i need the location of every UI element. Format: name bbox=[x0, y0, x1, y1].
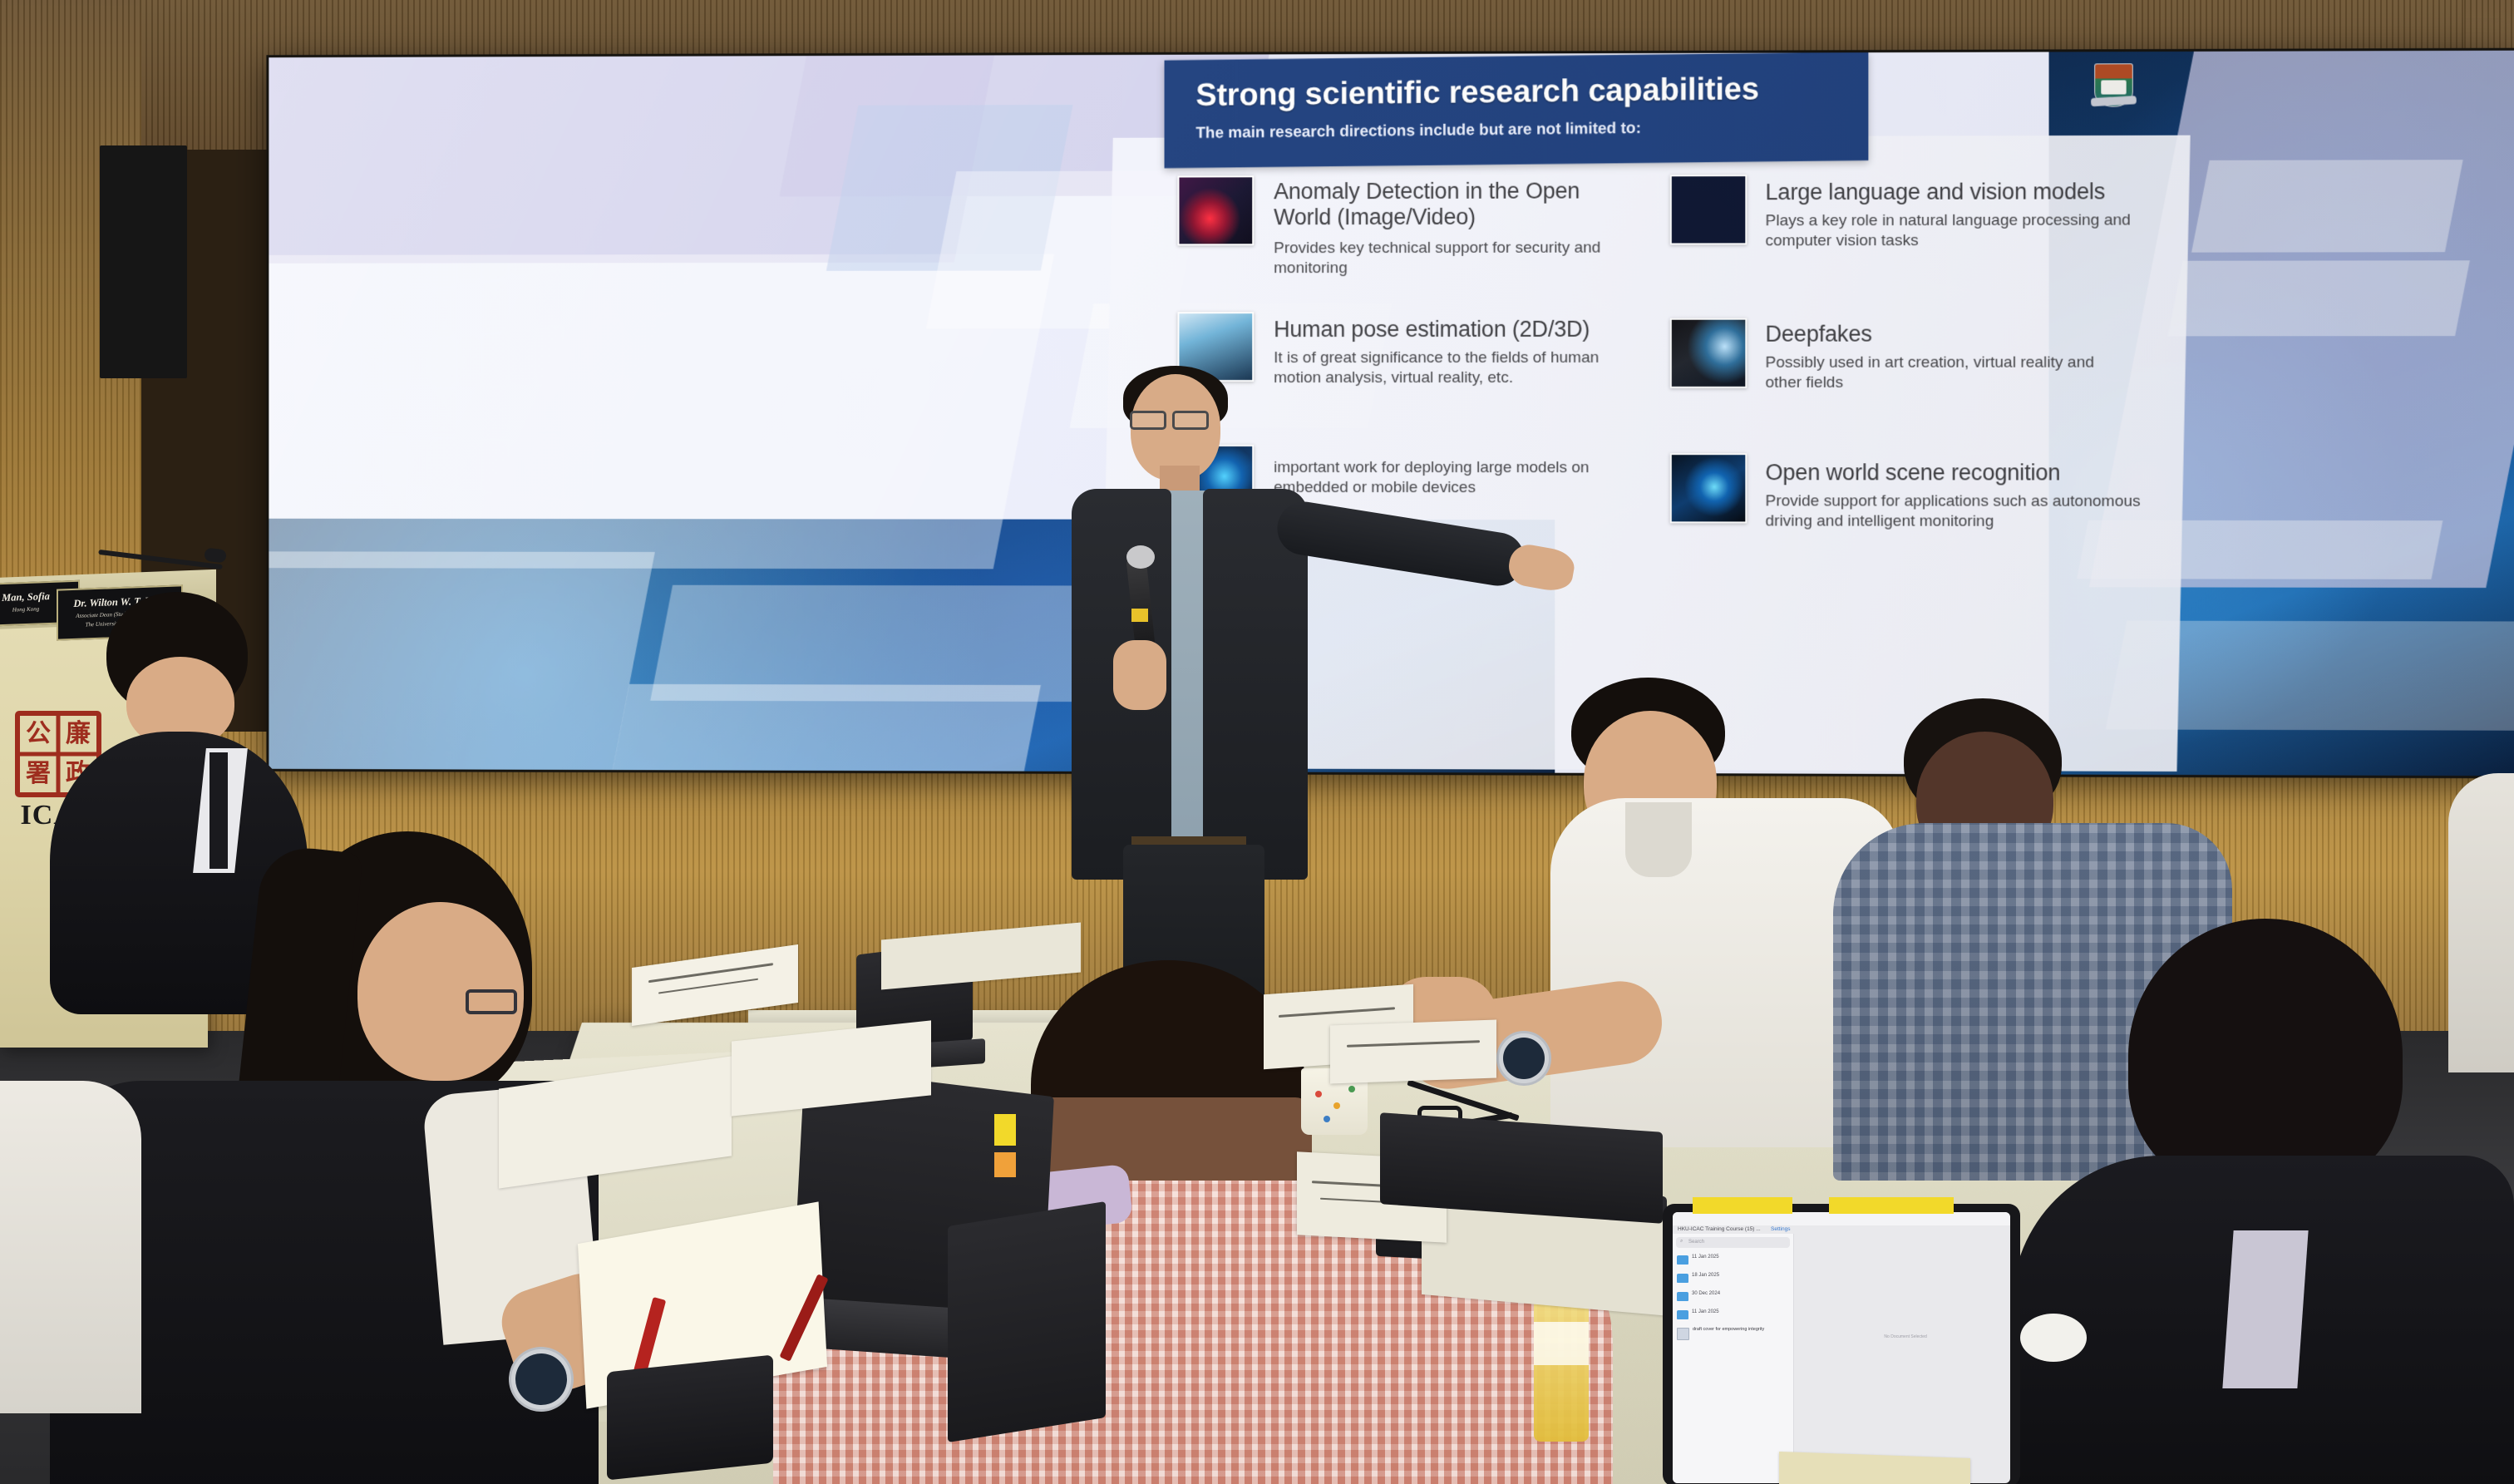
item-body: Plays a key role in natural language pro… bbox=[1765, 210, 2142, 251]
item-heading: Human pose estimation (2D/3D) bbox=[1274, 317, 1631, 343]
sticky-note bbox=[994, 1114, 1016, 1146]
tablet-folder-row[interactable]: 11 Jan 2025 bbox=[1677, 1254, 1789, 1268]
item-heading: Anomaly Detection in the Open World (Ima… bbox=[1274, 178, 1606, 230]
search-icon: ⌕ bbox=[1680, 1239, 1683, 1245]
tablet-folder-row[interactable]: 11 Jan 2025 bbox=[1677, 1309, 1789, 1323]
item-body: Provides key technical support for secur… bbox=[1274, 239, 1623, 279]
person-sleeve bbox=[0, 1081, 141, 1413]
bottle-label bbox=[1534, 1322, 1589, 1365]
tablet-folder-row[interactable]: 18 Jan 2025 bbox=[1677, 1272, 1789, 1286]
document-icon bbox=[1677, 1328, 1689, 1340]
presenter-extended-arm bbox=[1274, 498, 1528, 589]
watch-face bbox=[1503, 1038, 1545, 1079]
tablet-file-row[interactable]: draft cover for empowering integrity bbox=[1677, 1327, 1789, 1347]
sticky-note bbox=[994, 1152, 1016, 1177]
smartphone bbox=[607, 1354, 773, 1480]
folder-icon bbox=[1677, 1310, 1688, 1319]
slide-bg-shape bbox=[2168, 260, 2470, 336]
file-label: draft cover for empowering integrity bbox=[1693, 1327, 1764, 1332]
microphone-head-icon bbox=[1126, 545, 1155, 569]
slide-bg-shape bbox=[612, 684, 1041, 777]
person-lanyard-strap bbox=[2222, 1230, 2308, 1388]
presenter-glasses-left-lens bbox=[1130, 411, 1166, 430]
tablet-screen[interactable]: HKU-ICAC Training Course (15) ... Settin… bbox=[1673, 1212, 2010, 1483]
tablet-empty-state: No Document Selected bbox=[1801, 1334, 2010, 1339]
deepfakes-thumbnail bbox=[1670, 318, 1747, 388]
person-hair bbox=[2128, 919, 2403, 1193]
slide-title: Strong scientific research capabilities bbox=[1195, 71, 1758, 114]
tablet-status-bar bbox=[1673, 1212, 2010, 1225]
tablet-search-input[interactable]: ⌕ Search bbox=[1676, 1237, 1790, 1248]
slide-subtitle: The main research directions include but… bbox=[1195, 120, 1641, 143]
crest-book-icon bbox=[2101, 80, 2126, 94]
microphone-label-tag bbox=[1131, 609, 1148, 622]
tablet-search-placeholder: Search bbox=[1688, 1240, 1704, 1245]
watch-face bbox=[509, 1347, 574, 1412]
cup-dot bbox=[1348, 1086, 1355, 1092]
podium-microphone-head bbox=[204, 547, 227, 563]
wall-dark-panel bbox=[100, 145, 187, 378]
folder-label: 30 Dec 2024 bbox=[1692, 1291, 1720, 1296]
sticky-note-tab bbox=[1829, 1197, 1954, 1214]
cup-dot bbox=[1315, 1091, 1322, 1097]
paper-sheet bbox=[1779, 1452, 1970, 1484]
item-body: Possibly used in art creation, virtual r… bbox=[1765, 353, 2126, 393]
hku-crest-logo bbox=[2094, 63, 2133, 106]
folder-label: 11 Jan 2025 bbox=[1692, 1309, 1719, 1314]
person-necktie bbox=[209, 752, 228, 869]
person-sleeve bbox=[2448, 773, 2514, 1072]
open-world-scene-thumbnail bbox=[1670, 453, 1747, 523]
slide-bg-shape bbox=[2191, 160, 2463, 252]
slide-title-bar: Strong scientific research capabilities … bbox=[1165, 52, 1869, 168]
tablet-settings-link[interactable]: Settings bbox=[1771, 1226, 1791, 1232]
folder-icon bbox=[1677, 1292, 1688, 1301]
folder-icon bbox=[1677, 1274, 1688, 1283]
folder-label: 11 Jan 2025 bbox=[1692, 1255, 1719, 1260]
crest-ribbon bbox=[2091, 96, 2137, 106]
seal-glyph-lian: 廉 bbox=[62, 717, 95, 751]
name-tent-card bbox=[1330, 1020, 1496, 1084]
seal-horizontal-divider bbox=[18, 752, 98, 757]
presenter-mic-hand bbox=[1113, 640, 1166, 710]
seal-glyph-shu: 署 bbox=[22, 757, 55, 791]
item-heading: Deepfakes bbox=[1765, 321, 2126, 348]
person-polo-collar bbox=[1625, 802, 1692, 877]
seal-glyph-gong: 公 bbox=[22, 717, 55, 751]
tent-card-text-line bbox=[1347, 1040, 1480, 1048]
item-heading: Open world scene recognition bbox=[1765, 460, 2168, 486]
item-heading: Large language and vision models bbox=[1765, 179, 2160, 205]
tablet-folder-row[interactable]: 30 Dec 2024 bbox=[1677, 1290, 1789, 1304]
presenter-person bbox=[1043, 366, 1559, 1056]
tablet-cover bbox=[948, 1201, 1106, 1442]
tent-card-text-line bbox=[1279, 1007, 1395, 1018]
tablet-breadcrumb[interactable]: HKU-ICAC Training Course (15) ... bbox=[1678, 1226, 1761, 1232]
item-body: Provide support for applications such as… bbox=[1765, 491, 2160, 532]
sticky-note-tab bbox=[1693, 1197, 1792, 1214]
cup-dot bbox=[1324, 1116, 1330, 1122]
presenter-glasses-right-lens bbox=[1172, 411, 1209, 430]
person-wristwatch bbox=[1496, 1031, 1551, 1086]
saucer bbox=[2020, 1314, 2087, 1362]
tablet-file-sidebar[interactable]: ⌕ Search 11 Jan 2025 18 Jan 2025 30 Dec … bbox=[1673, 1234, 1794, 1483]
person-eyeglasses bbox=[466, 989, 517, 1014]
folder-label: 18 Jan 2025 bbox=[1692, 1273, 1719, 1278]
large-language-model-thumbnail bbox=[1670, 175, 1747, 244]
slide-bg-shape bbox=[266, 551, 654, 778]
tent-card-text-line bbox=[658, 979, 758, 994]
conference-room-scene: Strong scientific research capabilities … bbox=[0, 0, 2514, 1484]
folder-icon bbox=[1677, 1255, 1688, 1265]
cup-dot bbox=[1333, 1102, 1340, 1109]
anomaly-detection-thumbnail bbox=[1177, 175, 1254, 245]
